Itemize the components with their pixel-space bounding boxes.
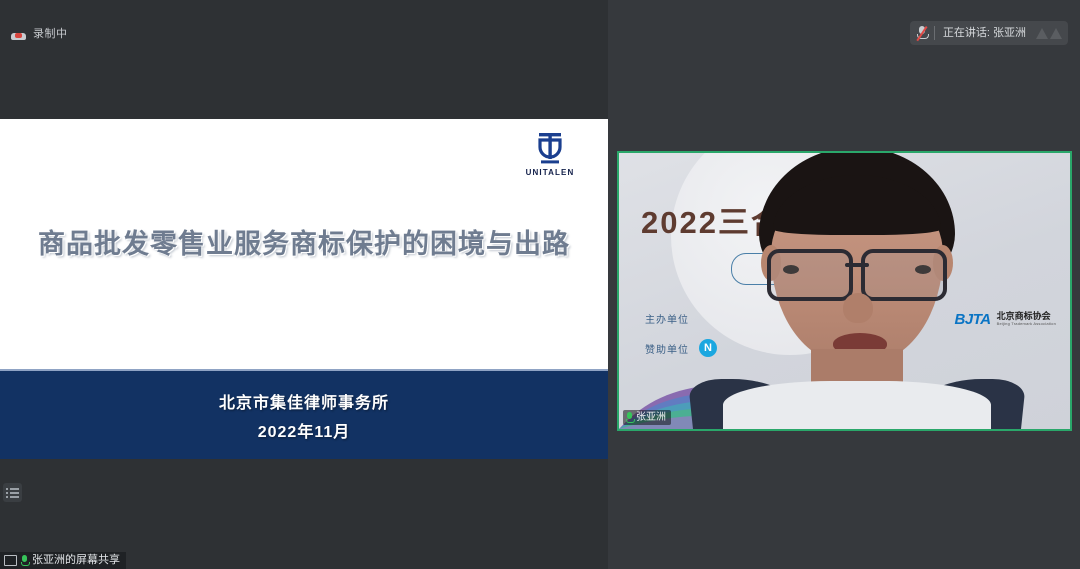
shared-screen-region: 录制中 UNITALEN 商品批发零售业服务商标保护的困境与出路 北京市集佳律师… — [0, 0, 608, 569]
video-tile-name-badge: 张亚洲 — [623, 410, 671, 425]
share-top-bar: 录制中 — [0, 0, 608, 119]
participant-name: 张亚洲 — [636, 412, 666, 424]
active-speaker-indicator[interactable]: 正在讲话: 张亚洲 — [910, 21, 1068, 45]
share-status-label: 张亚洲的屏幕共享 — [32, 554, 120, 567]
recording-indicator[interactable]: 录制中 — [9, 24, 74, 44]
active-speaker-label: 正在讲话: 张亚洲 — [943, 27, 1026, 40]
slide-firm-name: 北京市集佳律师事务所 — [219, 389, 389, 413]
presentation-slide[interactable]: UNITALEN 商品批发零售业服务商标保护的困境与出路 北京市集佳律师事务所 … — [0, 119, 608, 459]
record-camera-icon — [11, 29, 26, 40]
share-status-bar: 张亚洲的屏幕共享 — [0, 552, 126, 569]
eyeglasses — [763, 249, 951, 293]
microphone-icon — [21, 555, 28, 566]
slide-title: 商品批发零售业服务商标保护的困境与出路 — [38, 227, 570, 262]
slide-date: 2022年11月 — [258, 418, 351, 442]
video-region: 正在讲话: 张亚洲 2022三合商标论坛 百家争鸣 主办单位 赞助单位 N BJ… — [608, 0, 1080, 569]
meeting-screen: 录制中 UNITALEN 商品批发零售业服务商标保护的困境与出路 北京市集佳律师… — [0, 0, 1080, 569]
sponsor-label: 赞助单位 — [645, 341, 689, 356]
slide-footer-band: 北京市集佳律师事务所 2022年11月 — [0, 369, 608, 459]
participant-video-person — [707, 153, 1007, 429]
participant-list-icon[interactable] — [3, 483, 22, 502]
pill-divider — [934, 26, 935, 40]
recording-label: 录制中 — [33, 28, 68, 40]
microphone-icon — [626, 412, 633, 423]
organizer-row: 主办单位 — [645, 311, 689, 326]
audio-level-icon — [1036, 28, 1062, 39]
organizer-label: 主办单位 — [645, 311, 689, 326]
microphone-muted-icon — [917, 26, 927, 40]
screen-share-icon — [4, 555, 17, 566]
video-tile-zhangyazhou[interactable]: 2022三合商标论坛 百家争鸣 主办单位 赞助单位 N BJTA 北京商标协会 … — [617, 151, 1072, 431]
slide-title-block: 商品批发零售业服务商标保护的困境与出路 — [0, 119, 608, 371]
